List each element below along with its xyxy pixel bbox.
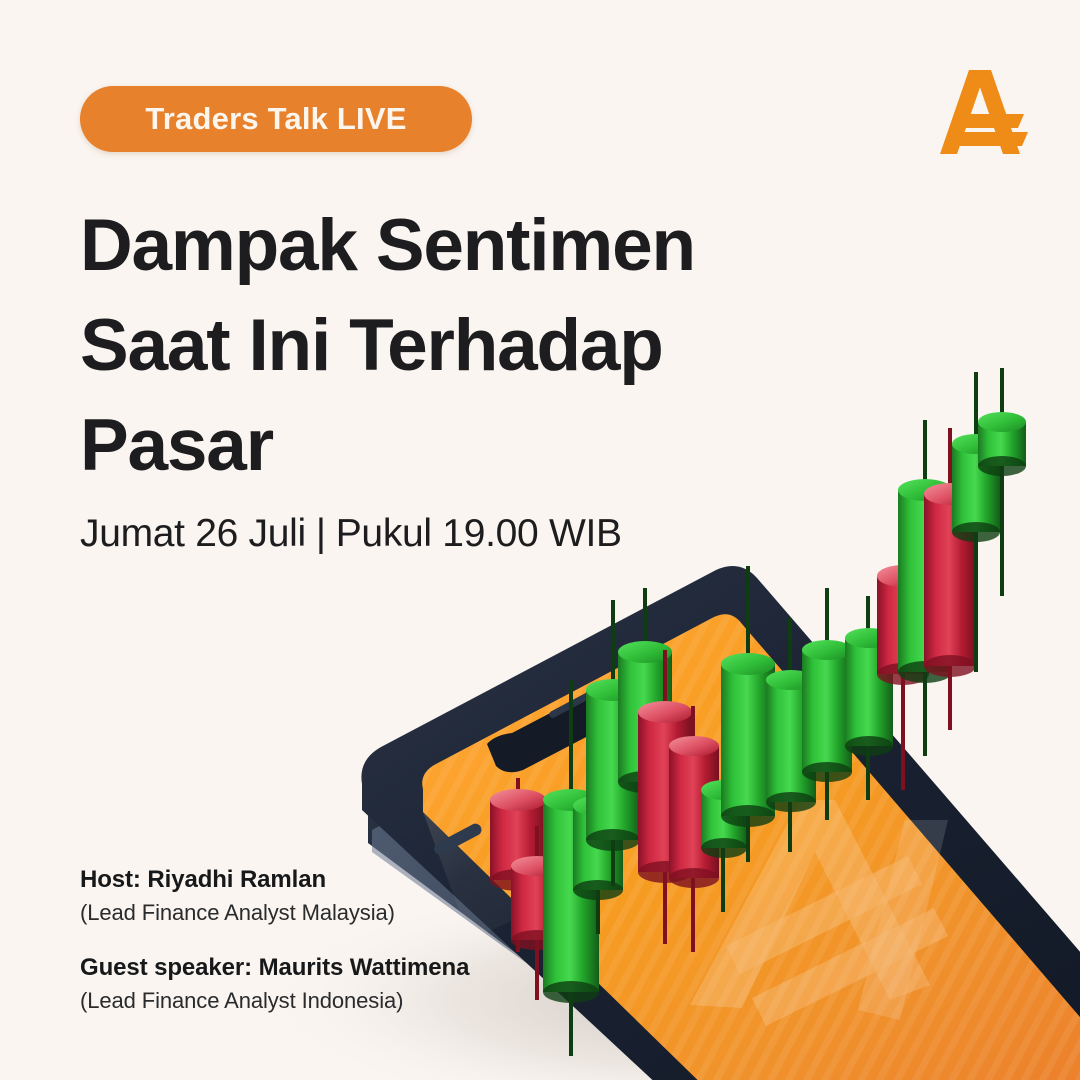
candle-15 (898, 420, 952, 756)
candle-6 (618, 588, 672, 862)
candle-10 (721, 566, 775, 862)
headline-line-2: Saat Ini Terhadap (80, 296, 800, 396)
headline-line-1: Dampak Sentimen (80, 196, 800, 296)
screen-watermark-logo-icon (690, 800, 948, 1026)
candle-5 (586, 600, 640, 886)
candle-16 (924, 428, 976, 730)
candle-11 (766, 618, 816, 852)
credit-host: Host: Riyadhi Ramlan (Lead Finance Analy… (80, 866, 469, 926)
schedule-separator: | (316, 512, 326, 556)
live-badge: Traders Talk LIVE (80, 86, 472, 152)
candle-4 (573, 716, 623, 934)
candle-12 (802, 588, 852, 820)
credits-block: Host: Riyadhi Ramlan (Lead Finance Analy… (80, 866, 469, 1014)
candle-14 (877, 512, 929, 790)
candle-1 (490, 778, 546, 952)
candle-9 (701, 726, 747, 912)
credit-guest: Guest speaker: Maurits Wattimena (Lead F… (80, 954, 469, 1014)
schedule-line: Jumat 26 Juli|Pukul 19.00 WIB (80, 512, 622, 556)
candle-7 (638, 650, 692, 944)
credit-host-role: (Lead Finance Analyst Malaysia) (80, 900, 469, 926)
schedule-time: Pukul 19.00 WIB (336, 512, 622, 555)
brand-logo-icon (928, 58, 1032, 162)
candle-18 (978, 368, 1026, 596)
credit-host-name: Host: Riyadhi Ramlan (80, 866, 469, 894)
headline-line-3: Pasar (80, 396, 800, 496)
poster-canvas: Traders Talk LIVE Dampak Sentimen Saat I… (0, 0, 1080, 1080)
candle-8 (669, 706, 719, 952)
schedule-date: Jumat 26 Juli (80, 512, 306, 555)
credit-guest-role: (Lead Finance Analyst Indonesia) (80, 988, 469, 1014)
candle-17 (952, 372, 1000, 672)
candle-2 (511, 826, 563, 1000)
page-title: Dampak Sentimen Saat Ini Terhadap Pasar (80, 196, 800, 496)
candle-13 (845, 596, 893, 800)
live-badge-label: Traders Talk LIVE (145, 101, 406, 137)
credit-guest-name: Guest speaker: Maurits Wattimena (80, 954, 469, 982)
candle-3 (543, 680, 599, 1056)
